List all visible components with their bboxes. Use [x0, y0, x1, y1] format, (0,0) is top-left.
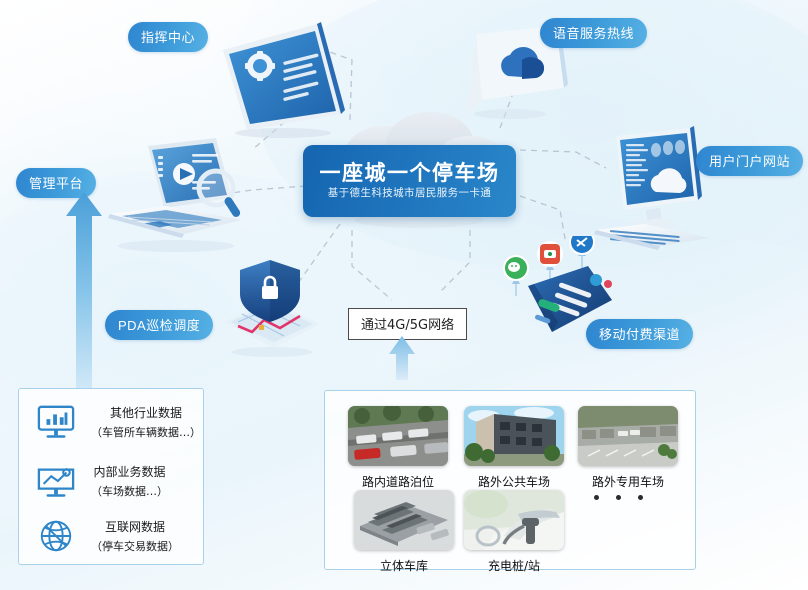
ellipsis-dot — [594, 495, 599, 500]
scene-tile[interactable]: 路外专用车场 — [578, 406, 678, 490]
scene-ellipsis — [594, 495, 643, 500]
monitor-line-chart-icon — [35, 462, 77, 500]
dedicated-lot-photo — [578, 406, 678, 466]
data-row-title: 内部业务数据 — [93, 463, 165, 480]
scene-tile[interactable]: 充电桩/站 — [464, 490, 564, 574]
upward-arrow-network — [387, 336, 417, 380]
data-row-sub: （车场数据…） — [91, 483, 168, 499]
data-row: 内部业务数据 （车场数据…） — [35, 462, 168, 500]
infographic-canvas: 一座城一个停车场 基于德生科技城市居民服务一卡通 指挥中心 — [0, 0, 808, 590]
scene-caption: 充电桩/站 — [464, 557, 564, 574]
network-box: 通过4G/5G网络 — [348, 308, 467, 340]
public-lot-photo — [464, 406, 564, 466]
hero-subtitle: 基于德生科技城市居民服务一卡通 — [328, 188, 492, 199]
label-management-platform[interactable]: 管理平台 — [16, 168, 96, 198]
ev-charging-photo — [464, 490, 564, 550]
stacked-garage-photo — [354, 490, 454, 550]
data-row: 互联网数据 （停车交易数据） — [35, 517, 179, 555]
data-row-title: 其他行业数据 — [110, 404, 182, 421]
monitor-bar-chart-icon — [35, 403, 77, 441]
upward-arrow-management — [62, 192, 106, 388]
label-pda-dispatch[interactable]: PDA巡检调度 — [105, 310, 213, 340]
scene-caption: 路外专用车场 — [578, 473, 678, 490]
hero-card: 一座城一个停车场 基于德生科技城市居民服务一卡通 — [303, 145, 516, 217]
scene-tile[interactable]: 立体车库 — [354, 490, 454, 574]
data-row-sub: （车管所车辆数据…） — [91, 424, 201, 440]
unionpay-icon — [571, 236, 593, 253]
label-voice-hotline[interactable]: 语音服务热线 — [540, 18, 647, 48]
street-parking-photo — [348, 406, 448, 466]
data-row: 其他行业数据 （车管所车辆数据…） — [35, 403, 201, 441]
label-user-portal[interactable]: 用户门户网站 — [696, 146, 803, 176]
label-mobile-payment[interactable]: 移动付费渠道 — [586, 319, 693, 349]
ellipsis-dot — [638, 495, 643, 500]
ellipsis-dot — [616, 495, 621, 500]
data-row-sub: （停车交易数据） — [91, 538, 179, 554]
scene-tile[interactable]: 路外公共车场 — [464, 406, 564, 490]
scene-caption: 路内道路泊位 — [348, 473, 448, 490]
isometric-laptop-magnifier-icon — [92, 136, 257, 256]
hero-title: 一座城一个停车场 — [320, 163, 500, 184]
globe-icon — [35, 517, 77, 555]
scene-tile[interactable]: 路内道路泊位 — [348, 406, 448, 490]
data-sources-panel: 其他行业数据 （车管所车辆数据…） 内部业务数据 （车场数据…） — [18, 388, 204, 565]
data-row-title: 互联网数据 — [105, 518, 165, 535]
scene-caption: 路外公共车场 — [464, 473, 564, 490]
scene-caption: 立体车库 — [354, 557, 454, 574]
alipay-icon — [540, 244, 560, 264]
wechat-pay-icon — [505, 257, 527, 279]
shield-lock-map-icon — [208, 252, 333, 360]
label-command-center[interactable]: 指挥中心 — [128, 22, 208, 52]
